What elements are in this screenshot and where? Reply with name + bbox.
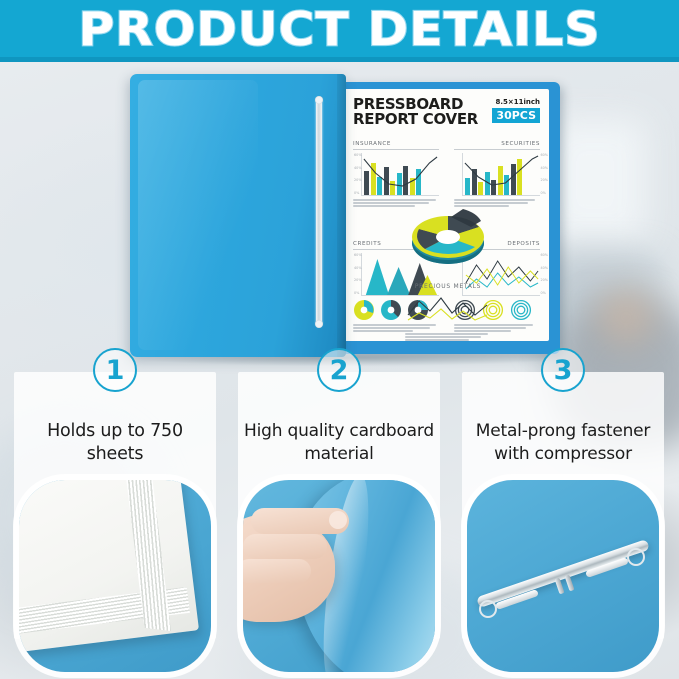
folder-right-panel: PRESSBOARD REPORT COVER 8.5×11inch 30PCS	[338, 82, 560, 354]
feature-card-list: 1 Holds up to 750 sheets 2 High quality …	[0, 360, 679, 679]
spiral-icon-3	[510, 299, 532, 321]
fastener-cap-top	[315, 96, 323, 104]
feature-caption-3: Metal-prong fastener with compressor	[468, 420, 658, 466]
finger-middle	[243, 534, 327, 559]
donut-chart: PRECIOUS METALS	[405, 187, 491, 279]
step-badge-3: 3	[541, 348, 585, 392]
metal-prong-fastener-photo	[467, 480, 659, 672]
feature-card-2: 2 High quality cardboard material	[238, 372, 440, 639]
fastener-clip-right	[565, 575, 575, 592]
report-section-precious-metals: PRECIOUS METALS	[405, 283, 491, 290]
quantity-badge: 30PCS	[492, 108, 540, 123]
report-cover-folder: PRESSBOARD REPORT COVER 8.5×11inch 30PCS	[130, 74, 560, 357]
precious-metals-chart	[405, 291, 491, 341]
size-label: 8.5×11inch	[492, 98, 540, 106]
feature-caption-1: Holds up to 750 sheets	[20, 420, 210, 466]
fastener-bar	[476, 539, 650, 608]
cover-highlight	[138, 80, 258, 350]
fastener-clip-left	[555, 578, 565, 595]
fastener-cap-bottom	[315, 320, 323, 328]
feature-caption-2: High quality cardboard material	[244, 420, 434, 466]
paper-stack-photo	[19, 480, 211, 672]
step-badge-2: 2	[317, 348, 361, 392]
page-title: PRODUCT DETAILS	[0, 0, 679, 58]
hand-bending-cover-photo	[243, 480, 435, 672]
fastener-strip	[316, 98, 322, 326]
pie-chart-2	[380, 299, 402, 321]
hero-product-photo: PRESSBOARD REPORT COVER 8.5×11inch 30PCS	[0, 62, 679, 360]
folder-front-cover	[130, 74, 346, 357]
report-chart-grid: INSURANCE 60%40%20%0%	[353, 141, 540, 333]
fastener-ring-right	[627, 548, 645, 566]
step-badge-1: 1	[93, 348, 137, 392]
feature-card-3: 3 Metal-prong fastener with compressor	[462, 372, 664, 639]
pie-chart-1	[353, 299, 375, 321]
finger-ring	[243, 559, 311, 583]
printed-report-page: PRESSBOARD REPORT COVER 8.5×11inch 30PCS	[344, 89, 549, 341]
header-banner: PRODUCT DETAILS	[0, 0, 679, 62]
product-details-infographic: PRODUCT DETAILS PRESSBOARD REPORT COVER	[0, 0, 679, 679]
cover-right-edge	[337, 74, 346, 357]
fastener-ring-left	[479, 600, 497, 618]
fingernail	[329, 511, 347, 529]
report-page-title: PRESSBOARD REPORT COVER	[353, 97, 478, 127]
feature-card-1: 1 Holds up to 750 sheets	[14, 372, 216, 639]
